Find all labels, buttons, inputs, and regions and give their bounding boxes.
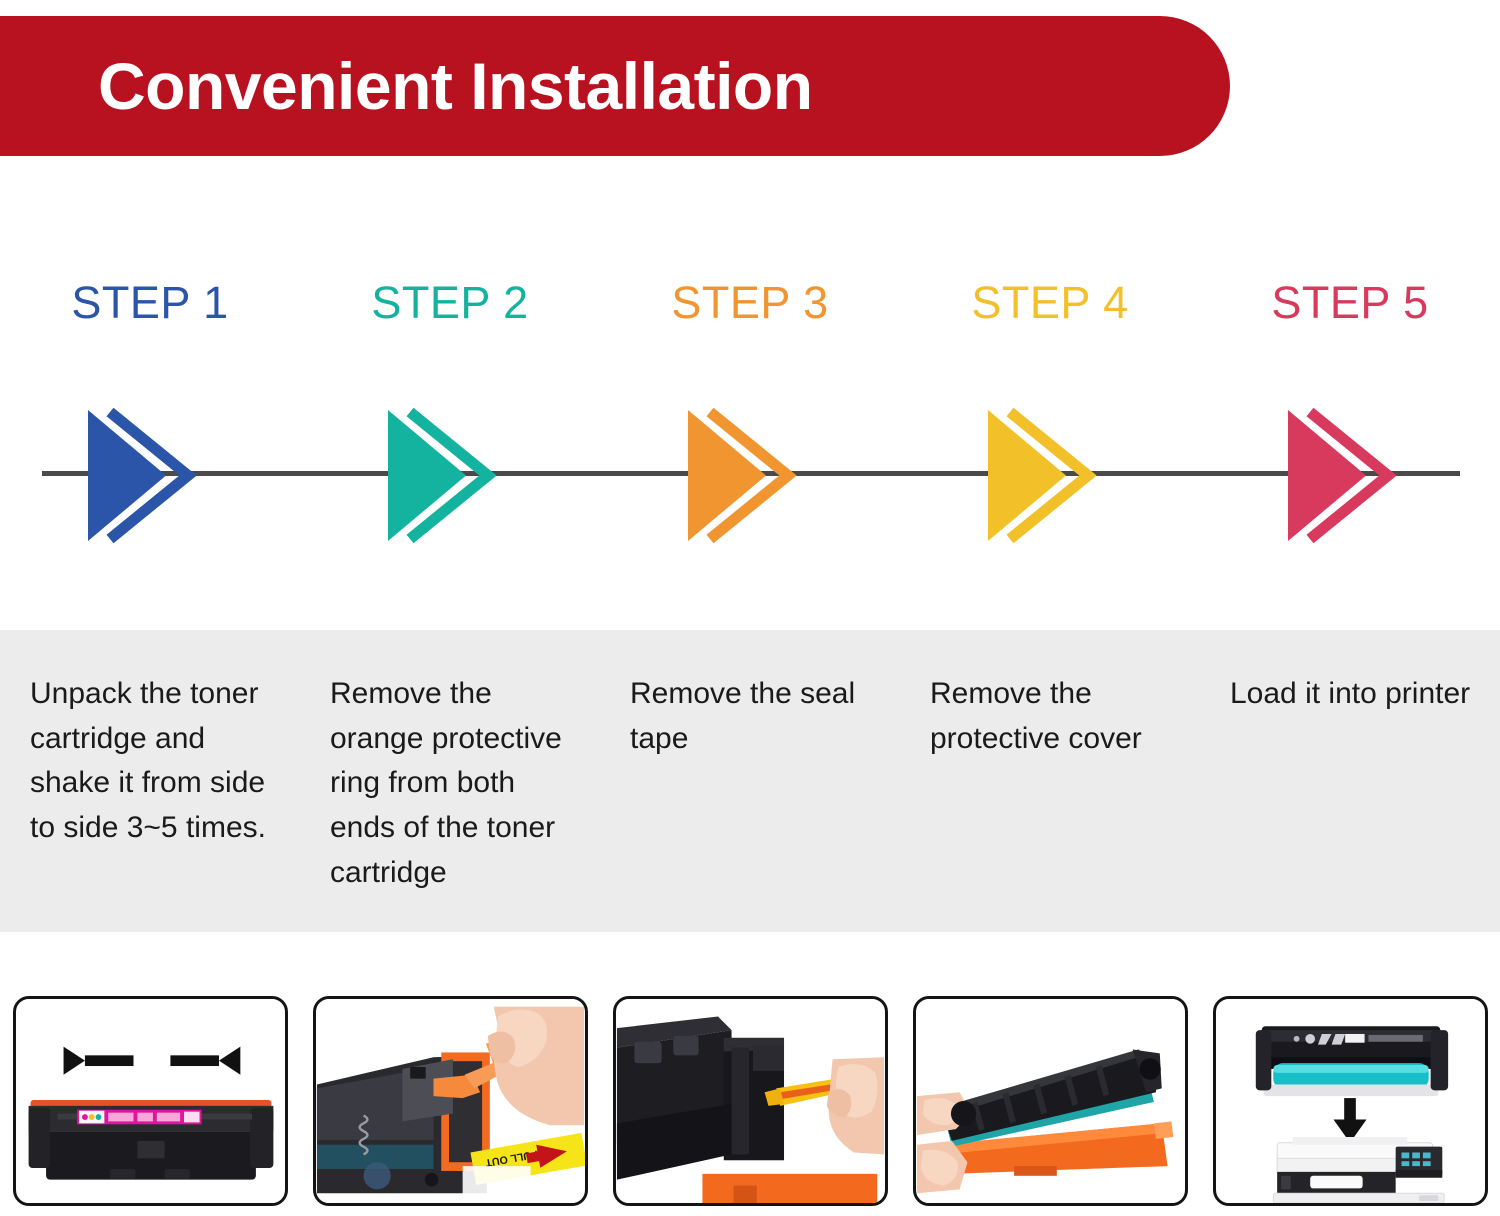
step-label-cell-4: STEP 4 [900,272,1200,334]
step-label-3: STEP 3 [671,277,828,329]
photo-remove-orange-ring: PULL OUT [316,999,585,1203]
step-label-5: STEP 5 [1271,277,1428,329]
step-label-1: STEP 1 [71,277,228,329]
desc-cell-3: Remove the seal tape [600,630,900,932]
step-labels-row: STEP 1 STEP 2 STEP 3 STEP 4 STEP 5 [0,272,1500,334]
step-label-cell-5: STEP 5 [1200,272,1500,334]
photo-load-into-printer [1216,999,1485,1203]
photo-frame-5 [1213,996,1488,1206]
photo-frame-3 [613,996,888,1206]
arrow-cell-3 [600,395,900,555]
arrow-cell-4 [900,395,1200,555]
step-description-5: Load it into printer [1230,672,1474,717]
photo-frame-2: PULL OUT [313,996,588,1206]
arrow-cell-1 [0,395,300,555]
step-arrows-row [0,395,1500,555]
banner: Convenient Installation [0,16,1230,156]
page-title: Convenient Installation [0,53,813,119]
photo-cell-2: PULL OUT [300,996,600,1208]
installation-infographic: Convenient Installation STEP 1 STEP 2 ST… [0,0,1500,1216]
step-arrow-icon-5 [1280,398,1420,553]
desc-cell-1: Unpack the toner cartridge and shake it … [0,630,300,932]
photo-remove-seal-tape [616,999,885,1203]
photo-cell-4 [900,996,1200,1208]
desc-cell-2: Remove the orange protective ring from b… [300,630,600,932]
photo-shake-cartridge [16,999,285,1203]
step-descriptions-band: Unpack the toner cartridge and shake it … [0,630,1500,932]
step-description-4: Remove the protective cover [930,672,1174,761]
step-description-1: Unpack the toner cartridge and shake it … [30,672,274,851]
step-label-cell-2: STEP 2 [300,272,600,334]
step-arrow-icon-4 [980,398,1120,553]
step-label-4: STEP 4 [971,277,1128,329]
photo-frame-1 [13,996,288,1206]
desc-cell-4: Remove the protective cover [900,630,1200,932]
arrow-cell-2 [300,395,600,555]
step-label-cell-3: STEP 3 [600,272,900,334]
arrow-cell-5 [1200,395,1500,555]
step-arrow-icon-3 [680,398,820,553]
step-arrow-icon-1 [80,398,220,553]
step-label-2: STEP 2 [371,277,528,329]
step-description-3: Remove the seal tape [630,672,874,761]
photo-cell-5 [1200,996,1500,1208]
photo-cell-3 [600,996,900,1208]
photo-remove-protective-cover [916,999,1185,1203]
photo-cell-1 [0,996,300,1208]
step-photos-row: PULL OUT [0,996,1500,1208]
step-label-cell-1: STEP 1 [0,272,300,334]
photo-frame-4 [913,996,1188,1206]
desc-cell-5: Load it into printer [1200,630,1500,932]
step-description-2: Remove the orange protective ring from b… [330,672,574,895]
step-arrow-icon-2 [380,398,520,553]
